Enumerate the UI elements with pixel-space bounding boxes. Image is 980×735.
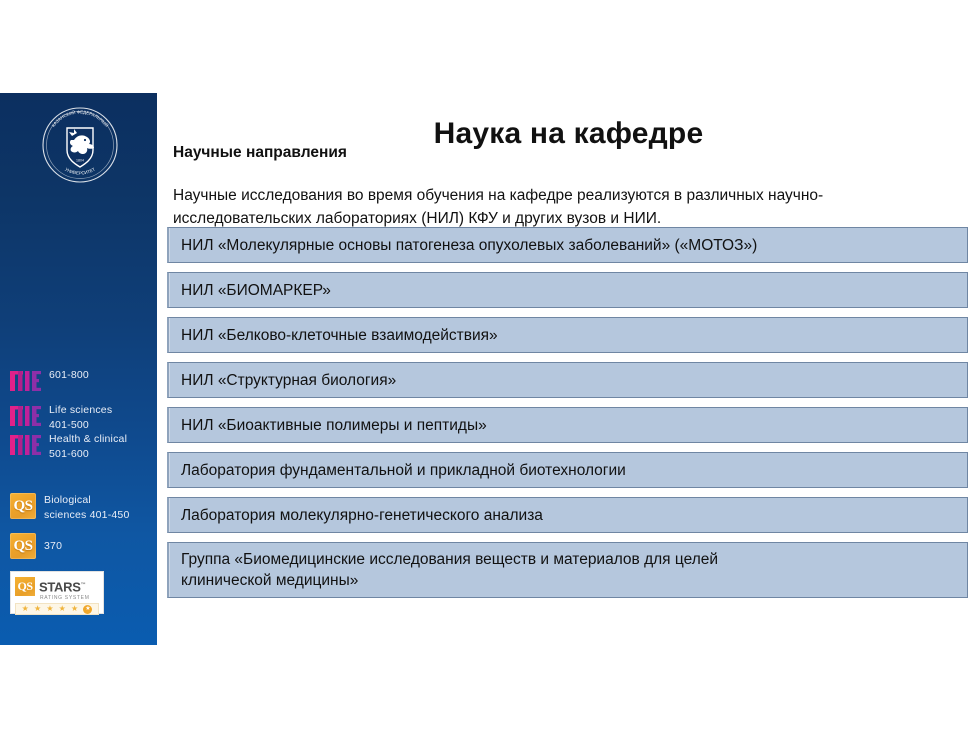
the-logo-icon xyxy=(10,368,41,394)
lab-name: Лаборатория молекулярно-генетического ан… xyxy=(181,505,543,526)
qs-stars-subtitle: RATING SYSTEM xyxy=(40,595,99,601)
svg-text:КАЗАНСКИЙ ФЕДЕРАЛЬНЫЙ: КАЗАНСКИЙ ФЕДЕРАЛЬНЫЙ xyxy=(51,109,110,127)
ranking-label: Health & clinical 501-600 xyxy=(49,432,127,461)
lab-name: НИЛ «Белково-клеточные взаимодействия» xyxy=(181,325,498,346)
qs-tile-icon: QS xyxy=(15,577,35,596)
lab-name: Группа «Биомедицинские исследования веще… xyxy=(181,549,718,591)
lab-name: Лаборатория фундаментальной и прикладной… xyxy=(181,460,626,481)
list-item[interactable]: НИЛ «Белково-клеточные взаимодействия» xyxy=(167,317,968,353)
ranking-row-the-overall: 601-800 xyxy=(10,368,89,394)
list-item[interactable]: Лаборатория молекулярно-генетического ан… xyxy=(167,497,968,533)
list-item[interactable]: Группа «Биомедицинские исследования веще… xyxy=(167,542,968,598)
ranking-row-qs-biological-sciences: QS Biological sciences 401-450 xyxy=(10,493,130,522)
sidebar: КАЗАНСКИЙ ФЕДЕРАЛЬНЫЙ УНИВЕРСИТЕТ 180 xyxy=(0,93,157,645)
ranking-label: 370 xyxy=(44,533,62,559)
svg-text:УНИВЕРСИТЕТ: УНИВЕРСИТЕТ xyxy=(64,167,96,176)
qs-stars-badge: QS STARS™ RATING SYSTEM ★ ★ ★ ★ ★ ★ xyxy=(10,571,104,614)
ranking-row-qs-overall: QS 370 xyxy=(10,533,62,559)
list-item[interactable]: НИЛ «Молекулярные основы патогенеза опух… xyxy=(167,227,968,263)
star-icon: ★ xyxy=(46,605,53,613)
star-icon: ★ xyxy=(71,605,78,613)
qs-logo-icon: QS xyxy=(10,493,36,519)
star-badge-icon: ★ xyxy=(83,605,92,614)
list-item[interactable]: НИЛ «Структурная биология» xyxy=(167,362,968,398)
list-item[interactable]: Лаборатория фундаментальной и прикладной… xyxy=(167,452,968,488)
kfu-emblem-icon: КАЗАНСКИЙ ФЕДЕРАЛЬНЫЙ УНИВЕРСИТЕТ 180 xyxy=(41,106,119,184)
slide-canvas: КАЗАНСКИЙ ФЕДЕРАЛЬНЫЙ УНИВЕРСИТЕТ 180 xyxy=(0,0,980,735)
laboratory-list: НИЛ «Молекулярные основы патогенеза опух… xyxy=(167,227,968,607)
qs-stars-title: STARS™ xyxy=(39,579,85,593)
lab-name: НИЛ «БИОМАРКЕР» xyxy=(181,280,331,301)
qs-logo-icon: QS xyxy=(10,533,36,559)
ranking-label: Biological sciences 401-450 xyxy=(44,493,130,522)
list-item[interactable]: НИЛ «Биоактивные полимеры и пептиды» xyxy=(167,407,968,443)
star-icon: ★ xyxy=(59,605,66,613)
star-icon: ★ xyxy=(22,605,29,613)
trademark-symbol: ™ xyxy=(81,582,86,588)
lab-name: НИЛ «Структурная биология» xyxy=(181,370,396,391)
qs-stars-rating-strip: ★ ★ ★ ★ ★ ★ xyxy=(15,603,99,615)
ranking-row-the-life-sciences: Life sciences 401-500 xyxy=(10,403,112,432)
the-logo-icon xyxy=(10,432,41,458)
svg-text:1804: 1804 xyxy=(76,159,84,163)
intro-paragraph: Научные исследования во время обучения н… xyxy=(173,184,953,230)
ranking-label: 601-800 xyxy=(49,368,89,383)
main-content: Наука на кафедре Научные направления Нау… xyxy=(167,0,980,735)
list-item[interactable]: НИЛ «БИОМАРКЕР» xyxy=(167,272,968,308)
the-logo-icon xyxy=(10,403,41,429)
qs-stars-top-row: QS STARS™ xyxy=(15,575,99,597)
lab-name: НИЛ «Биоактивные полимеры и пептиды» xyxy=(181,415,487,436)
ranking-label: Life sciences 401-500 xyxy=(49,403,112,432)
lab-name: НИЛ «Молекулярные основы патогенеза опух… xyxy=(181,235,757,256)
section-heading: Научные направления xyxy=(173,144,347,162)
ranking-row-the-health-clinical: Health & clinical 501-600 xyxy=(10,432,127,461)
star-icon: ★ xyxy=(34,605,41,613)
